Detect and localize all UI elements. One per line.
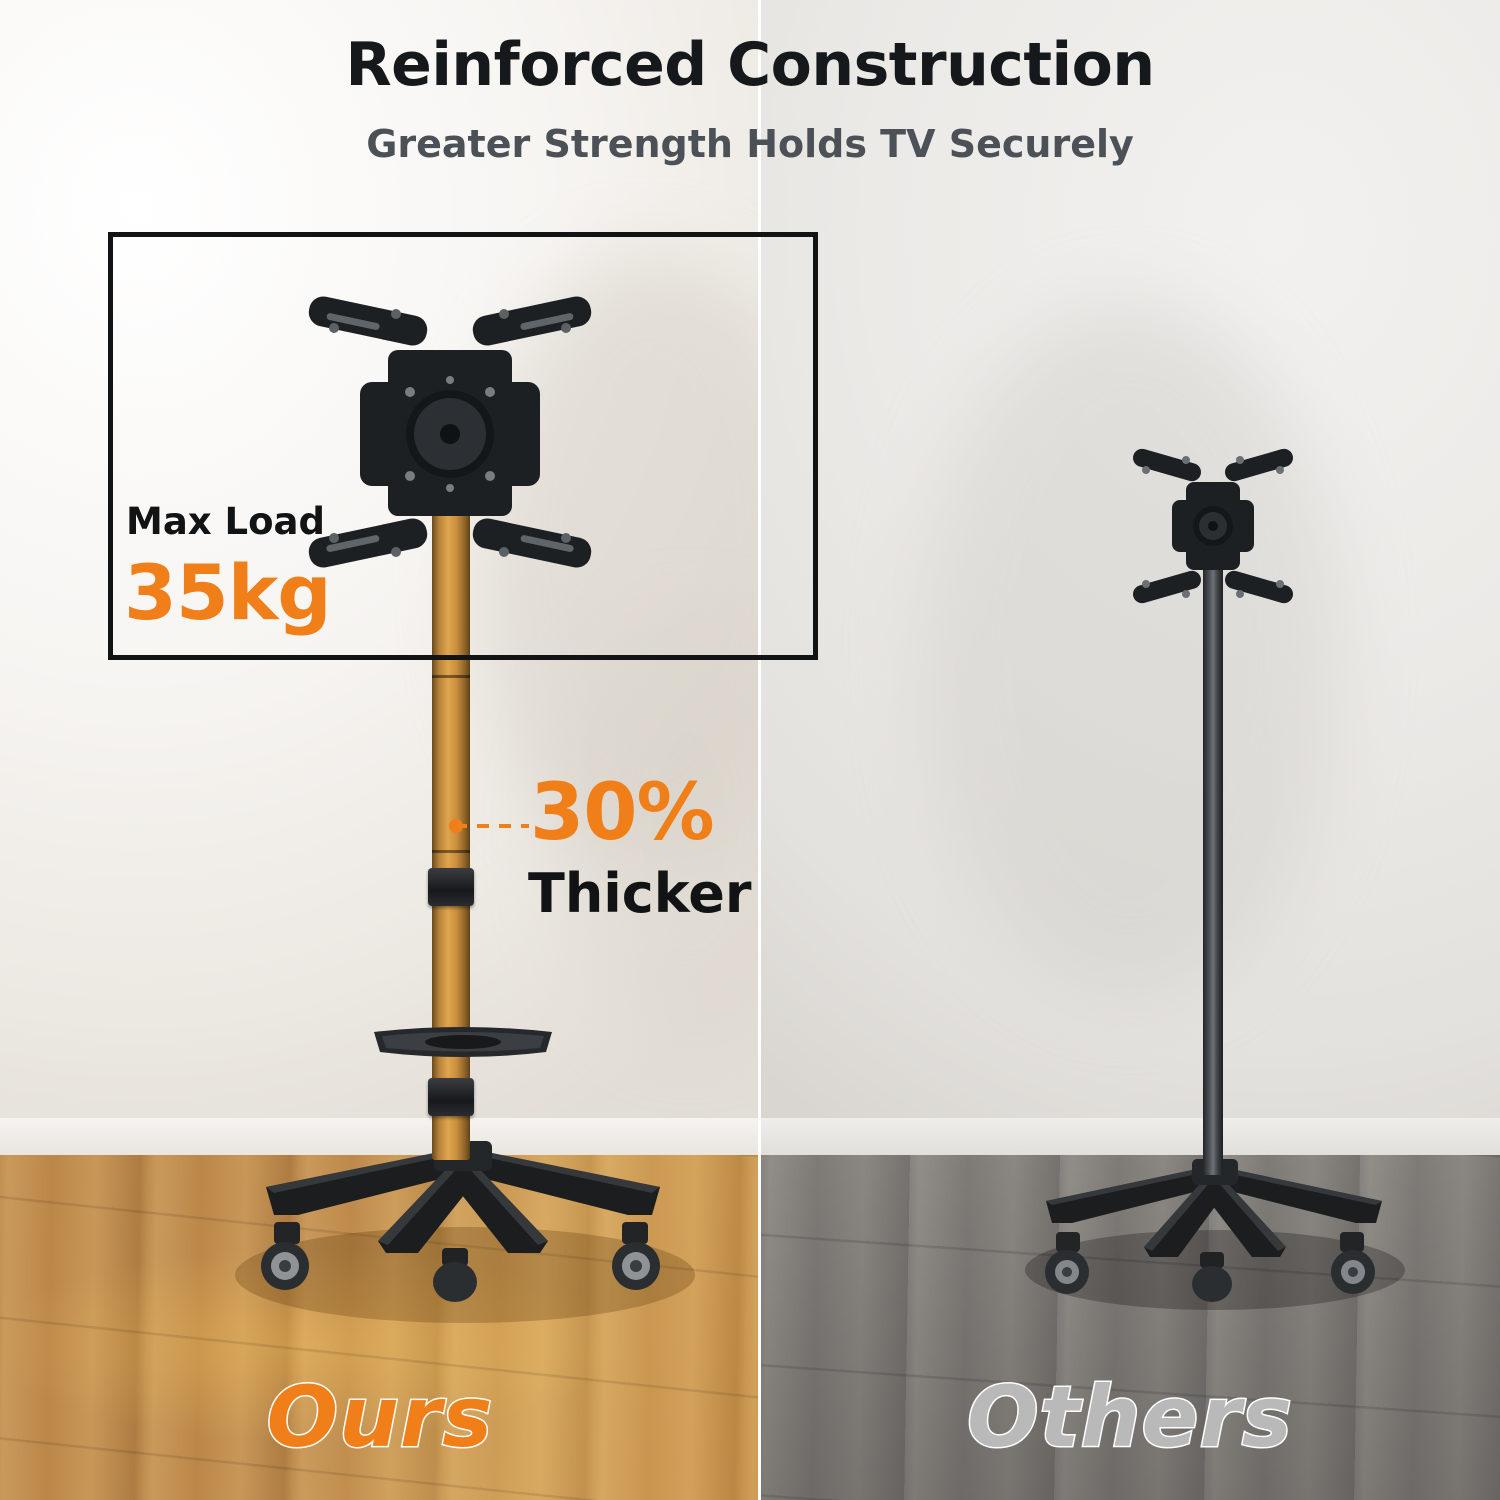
pole-clamp-lower: [428, 1078, 474, 1116]
thickness-label: Thicker: [528, 862, 752, 925]
page-subtitle: Greater Strength Holds TV Securely: [0, 122, 1500, 166]
label-ours: Ours: [0, 1368, 760, 1466]
pole-clamp-upper: [428, 868, 474, 906]
accessory-tray-icon: [368, 1022, 558, 1064]
caster-wheel-icon: [252, 1218, 322, 1298]
label-others: Others: [760, 1368, 1500, 1466]
caster-wheel-icon: [1038, 1228, 1100, 1300]
tv-mount-bracket-icon: [1128, 448, 1298, 608]
caster-wheel-icon: [1322, 1228, 1384, 1300]
wall-shadow-right: [920, 300, 1340, 1000]
thickness-percent: 30%: [530, 768, 714, 858]
leader-line-dashes-icon: [455, 824, 529, 828]
panel-divider: [758, 0, 761, 1500]
stand-pole-others: [1203, 560, 1223, 1175]
max-load-value: 35kg: [124, 548, 331, 637]
page-title: Reinforced Construction: [0, 30, 1500, 100]
caster-wheel-icon: [1178, 1252, 1248, 1308]
max-load-label: Max Load: [126, 500, 325, 543]
caster-wheel-icon: [600, 1218, 670, 1298]
caster-wheel-icon: [420, 1248, 490, 1308]
product-comparison-graphic: Reinforced Construction Greater Strength…: [0, 0, 1500, 1500]
